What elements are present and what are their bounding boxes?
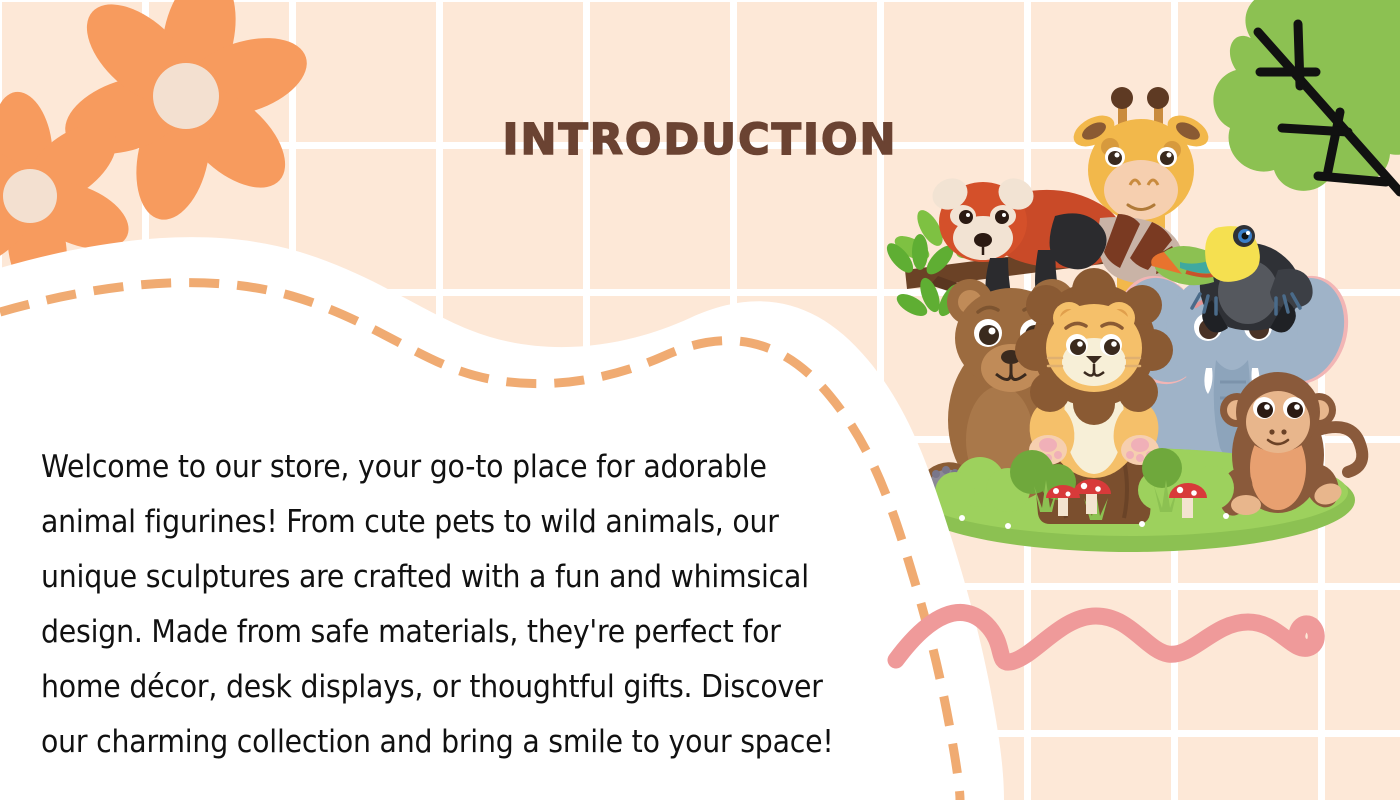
slide-canvas: Introduction Welcome to our store, your … [0, 0, 1400, 800]
page-title: Introduction [0, 96, 1400, 169]
body-paragraph: Welcome to our store, your go-to place f… [41, 440, 841, 770]
